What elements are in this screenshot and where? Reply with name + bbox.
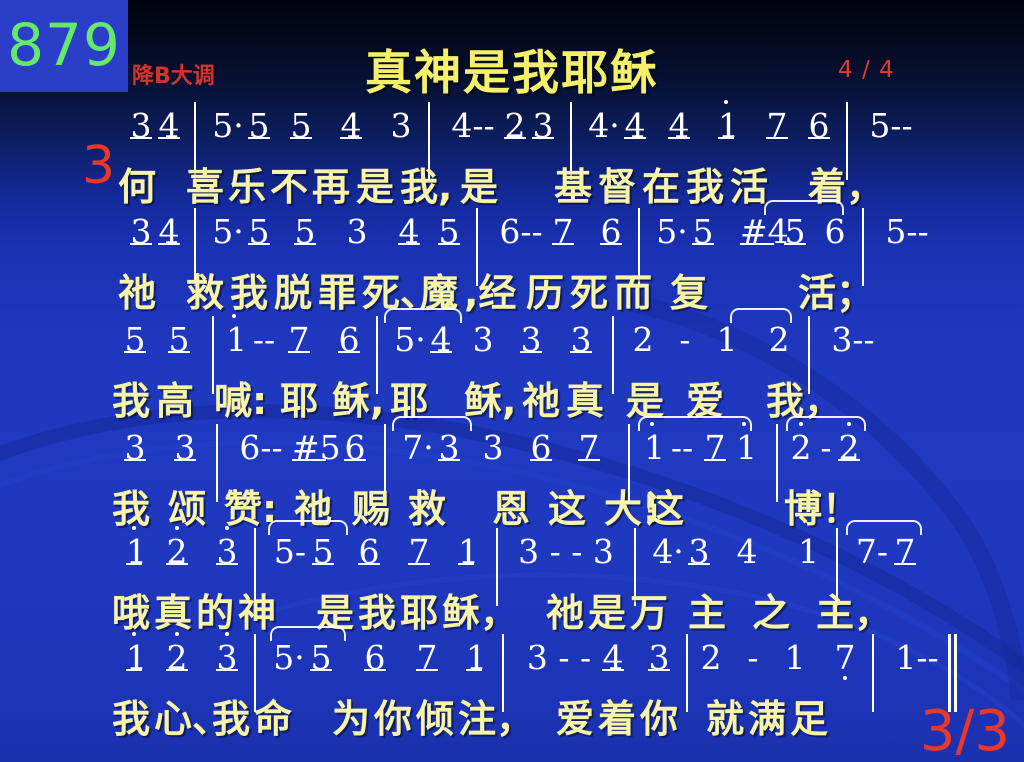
- note: 5: [784, 212, 806, 251]
- note: 4: [624, 106, 646, 145]
- lyrics-row-3: 我 高 喊: 耶 稣, 耶 稣, 祂 真 是 爱 我，: [108, 370, 918, 422]
- note-high-octave: 3: [216, 532, 238, 571]
- lyric-syllable: 何: [118, 156, 156, 211]
- note: 7: [894, 532, 916, 571]
- lyric-syllable: 乐: [228, 156, 266, 211]
- note-dash: --: [660, 428, 704, 467]
- lyric-syllable: 倾: [416, 688, 454, 743]
- lyric-syllable: 我: [212, 688, 250, 743]
- lyric-syllable: 恩: [492, 478, 530, 533]
- note: 5: [168, 320, 190, 359]
- lyric-syllable: 活: [730, 156, 768, 211]
- notation-row-1: 3 4 5· 5 5 4 3 4-- 2 3 4· 4 4 1 7 6 5--: [108, 106, 918, 156]
- note: 4--: [442, 106, 504, 145]
- lyric-syllable: 救: [408, 478, 446, 533]
- lyric-syllable: 是: [460, 156, 498, 211]
- lyric-syllable: 我: [686, 156, 724, 211]
- note: 5·: [208, 106, 248, 145]
- note: 6: [530, 428, 552, 467]
- lyric-syllable: 这: [548, 478, 586, 533]
- lyric-syllable: 万: [630, 582, 668, 637]
- score-line-6: 1 2 3 5· 5 6 7 1 3 - - 4 3 2 - 1 7 1-- 我…: [108, 638, 918, 740]
- note: 6: [344, 428, 366, 467]
- time-signature: 4 / 4: [838, 57, 895, 83]
- lyric-syllable: 满: [748, 688, 786, 743]
- lyric-syllable: 是: [356, 156, 394, 211]
- notation-row-6: 1 2 3 5· 5 6 7 1 3 - - 4 3 2 - 1 7 1--: [108, 638, 918, 688]
- notation-row-3: 5 5 1 -- 7 6 5· 4 3 3 3 2 - 1 2 3--: [108, 320, 918, 370]
- lyric-syllable: 活；: [798, 262, 874, 317]
- note: 5: [248, 106, 270, 145]
- lyric-syllable: 我: [230, 262, 268, 317]
- note: 7: [578, 428, 600, 467]
- note: 1: [716, 320, 738, 359]
- lyric-syllable: 哦: [112, 582, 150, 637]
- lyric-syllable: 罪: [318, 262, 356, 317]
- note: 6: [364, 638, 386, 677]
- note-dash: -: [742, 638, 764, 677]
- note: 5: [438, 212, 460, 251]
- note: 4·: [584, 106, 624, 145]
- lyric-syllable: 督: [598, 156, 636, 211]
- note-high-octave: 1: [718, 106, 734, 145]
- lyric-syllable: 的: [196, 582, 234, 637]
- lyric-syllable: 我,: [400, 156, 452, 211]
- note-high-octave: 2: [790, 428, 812, 467]
- lyric-syllable: 命: [254, 688, 292, 743]
- note: 4: [668, 106, 690, 145]
- note-high-octave: 1: [458, 532, 474, 571]
- lyric-syllable: 着: [598, 688, 636, 743]
- note: 6: [824, 212, 846, 251]
- lyric-syllable: ,经: [464, 262, 516, 317]
- lyric-syllable: 喊:: [214, 370, 267, 425]
- note: 4: [736, 532, 758, 571]
- score-line-1: 3 4 5· 5 5 4 3 4-- 2 3 4· 4 4 1 7 6 5-- …: [108, 106, 918, 208]
- note: 3: [570, 320, 592, 359]
- note: 3: [390, 106, 412, 145]
- note: 4: [602, 638, 624, 677]
- lyric-syllable: 就: [706, 688, 744, 743]
- note: 6--: [230, 428, 292, 467]
- note-high-octave: 1: [644, 428, 660, 467]
- lyric-syllable: 颂: [168, 478, 206, 533]
- lyric-syllable: 祂: [522, 370, 560, 425]
- final-double-barline: [948, 634, 958, 712]
- lyric-syllable: 之: [752, 582, 790, 637]
- lyric-syllable: 我: [112, 688, 150, 743]
- score-line-2: 3 4 5· 5 5 3 4 5 6-- 7 6 5· 5 #4 5 6 5--…: [108, 212, 918, 314]
- note: 2: [768, 320, 790, 359]
- note: 5-: [268, 532, 312, 571]
- note: 3 - -: [516, 638, 602, 677]
- note: 3: [124, 428, 146, 467]
- note: 3: [532, 106, 554, 145]
- lyric-syllable: 稣,: [332, 370, 384, 425]
- note-high-octave: 1: [798, 532, 814, 571]
- note: 4: [340, 106, 362, 145]
- note-high-octave: 1: [466, 638, 482, 677]
- note-dash: --: [242, 320, 286, 359]
- lyric-syllable: 祂: [546, 582, 584, 637]
- note: 5: [248, 212, 270, 251]
- note: 5: [310, 638, 332, 677]
- note-low-octave: 7: [834, 638, 856, 677]
- lyric-syllable: 主: [688, 582, 726, 637]
- lyric-syllable: 历: [526, 262, 564, 317]
- note: 7: [766, 106, 788, 145]
- note: 4: [430, 320, 452, 359]
- lyric-syllable: 在: [642, 156, 680, 211]
- lyric-syllable: 我: [112, 478, 150, 533]
- note: 6--: [490, 212, 552, 251]
- lyric-syllable: 主，: [816, 582, 892, 637]
- note: 7: [288, 320, 310, 359]
- lyric-syllable: 脱: [274, 262, 312, 317]
- note: 6: [600, 212, 622, 251]
- note: 3: [130, 106, 152, 145]
- lyric-syllable: 爱: [556, 688, 594, 743]
- lyric-syllable: 稣，: [442, 582, 518, 637]
- lyric-syllable: 赐: [352, 478, 390, 533]
- lyric-syllable: 这: [646, 478, 684, 533]
- note: 4: [158, 212, 180, 251]
- note: 3: [648, 638, 670, 677]
- note-dash: -: [816, 428, 836, 467]
- note-high-octave: 1: [226, 320, 242, 359]
- score-line-4: 3 3 6-- #5 6 7· 3 3 6 7 1 -- 7 1 2 - 2: [108, 428, 918, 530]
- note-high-octave: 2: [838, 428, 860, 467]
- lyric-syllable: 不: [270, 156, 308, 211]
- lyric-syllable: 死: [570, 262, 608, 317]
- note: 1--: [886, 638, 948, 677]
- lyrics-row-5: 哦 真 的 神 是 我 耶 稣， 祂 是 万 主 之 主，: [108, 582, 918, 634]
- note: 5·: [652, 212, 692, 251]
- note-high-octave: 2: [166, 532, 188, 571]
- lyrics-row-2: 祂 救 我 脱 罪 死、 魔 ,经 历 死 而 复 活；: [108, 262, 918, 314]
- lyric-syllable: 救: [186, 262, 224, 317]
- notation-row-5: 1 2 3 5- 5 6 7 1 3 - - 3 4· 3 4 1 7- 7: [108, 532, 918, 582]
- note-high-octave: 3: [216, 638, 238, 677]
- note: 3 - - 3: [510, 532, 622, 571]
- hymn-slide: 879 降B大调 真神是我耶稣 4 / 4 3 3/3 3 4 5· 5 5 4…: [0, 0, 1024, 762]
- note-high-octave: 1: [126, 532, 142, 571]
- note: 5: [692, 212, 714, 251]
- notation-row-4: 3 3 6-- #5 6 7· 3 3 6 7 1 -- 7 1 2 - 2: [108, 428, 918, 478]
- lyric-syllable: 祂: [118, 262, 156, 317]
- note: 5: [312, 532, 334, 571]
- lyrics-row-4: 我 颂 赞: 祂 赐 救 恩 这 大! 这 博！: [108, 478, 918, 530]
- note: 1: [784, 638, 806, 677]
- lyric-syllable: 耶: [280, 370, 318, 425]
- lyric-syllable: 稣,: [464, 370, 516, 425]
- lyric-syllable: 足: [790, 688, 828, 743]
- note: 3: [520, 320, 542, 359]
- note: 5: [290, 106, 312, 145]
- note: 3--: [822, 320, 884, 359]
- note: 5--: [876, 212, 938, 251]
- note: 4: [158, 106, 180, 145]
- lyric-syllable: 真: [566, 370, 604, 425]
- note: 7: [408, 532, 430, 571]
- note-sharp: #4: [740, 212, 774, 251]
- lyric-syllable: 神: [238, 582, 276, 637]
- note: 6: [808, 106, 830, 145]
- lyrics-row-6: 我 心、 我 命 为 你 倾 注， 爱 着 你 就 满 足: [108, 688, 918, 740]
- lyric-syllable: 我: [358, 582, 396, 637]
- note: 2: [504, 106, 526, 145]
- score-line-3: 5 5 1 -- 7 6 5· 4 3 3 3 2 - 1 2 3-- 我 高: [108, 320, 918, 422]
- lyric-syllable: 你: [640, 688, 678, 743]
- note: 3: [130, 212, 152, 251]
- note: 7: [416, 638, 438, 677]
- note: 6: [338, 320, 360, 359]
- note: 6: [358, 532, 380, 571]
- note: 3: [346, 212, 368, 251]
- note: 3: [438, 428, 460, 467]
- note-high-octave: 1: [126, 638, 142, 677]
- lyric-syllable: 而: [614, 262, 652, 317]
- lyric-syllable: 你: [374, 688, 412, 743]
- note-sharp: #5: [292, 428, 326, 467]
- note: 4: [398, 212, 420, 251]
- score-line-5: 1 2 3 5- 5 6 7 1 3 - - 3 4· 3 4 1 7- 7 哦…: [108, 532, 918, 634]
- lyric-syllable: 高: [156, 370, 194, 425]
- lyric-syllable: 复: [670, 262, 708, 317]
- note: 7-: [850, 532, 894, 571]
- note: 7·: [398, 428, 438, 467]
- note: 5·: [268, 638, 310, 677]
- lyric-syllable: 基: [554, 156, 592, 211]
- lyric-syllable: 真: [154, 582, 192, 637]
- note: 3: [174, 428, 196, 467]
- note-high-octave: 2: [166, 638, 188, 677]
- note: 4·: [648, 532, 688, 571]
- lyric-syllable: 耶: [400, 582, 438, 637]
- note: 5·: [208, 212, 248, 251]
- note: 2: [700, 638, 722, 677]
- note-dash: -: [674, 320, 696, 359]
- lyric-syllable: 是: [588, 582, 626, 637]
- lyric-syllable: 为: [332, 688, 370, 743]
- lyric-syllable: 我: [112, 370, 150, 425]
- note: 3: [688, 532, 710, 571]
- note: 5: [294, 212, 316, 251]
- note: 5: [124, 320, 146, 359]
- notation-row-2: 3 4 5· 5 5 3 4 5 6-- 7 6 5· 5 #4 5 6 5--: [108, 212, 918, 262]
- note: 7: [704, 428, 726, 467]
- lyric-syllable: 注，: [458, 688, 534, 743]
- lyric-syllable: 喜: [186, 156, 224, 211]
- lyric-syllable: 再: [312, 156, 350, 211]
- note: 3: [482, 428, 504, 467]
- note: 5·: [390, 320, 430, 359]
- note-high-octave: 1: [736, 428, 752, 467]
- note: 3: [472, 320, 494, 359]
- page-indicator: 3/3: [920, 704, 1010, 760]
- note: 5--: [860, 106, 922, 145]
- note: 7: [552, 212, 574, 251]
- note: 2: [632, 320, 654, 359]
